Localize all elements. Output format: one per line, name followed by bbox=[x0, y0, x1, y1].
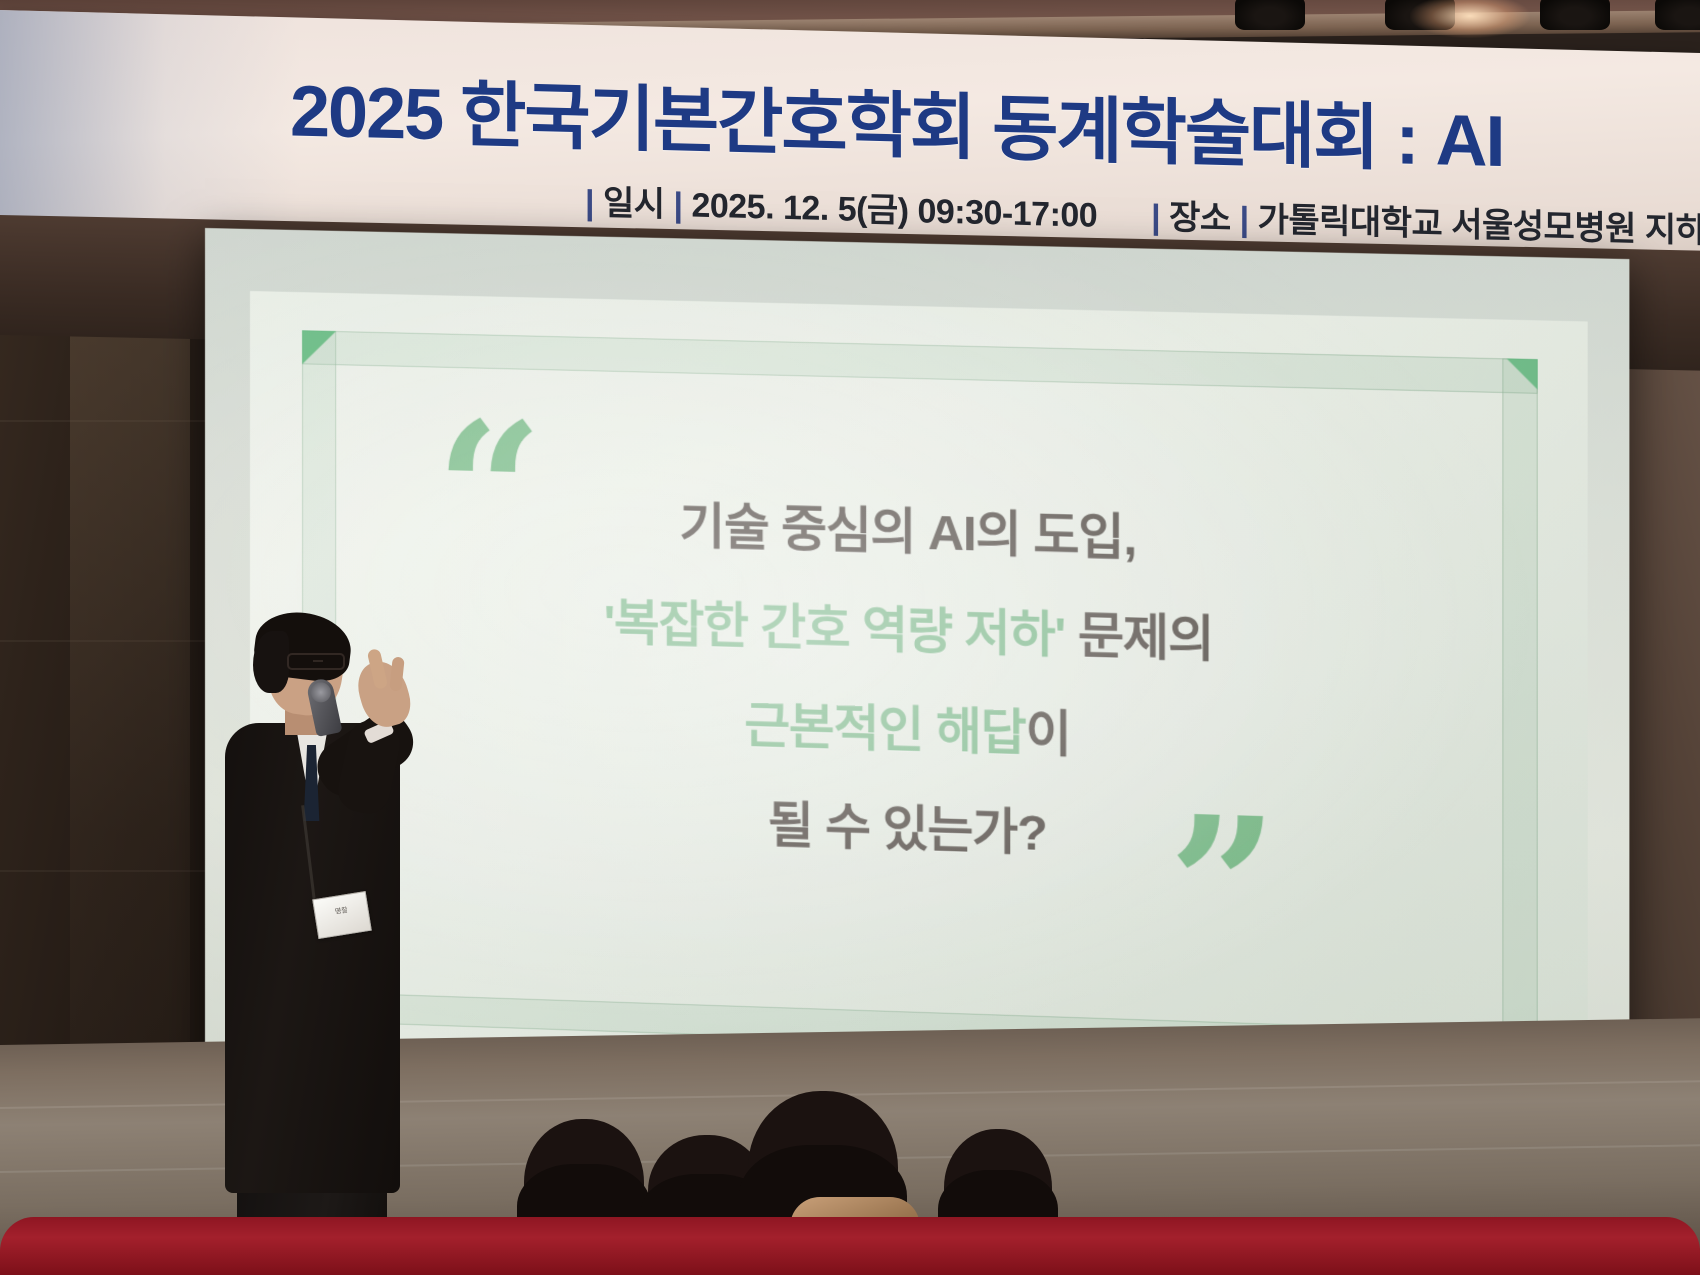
banner-shadow bbox=[0, 10, 300, 233]
quote-line-4-text: 될 수 있는가? bbox=[768, 798, 1047, 861]
quote-line-3: 근본적인 해답이 bbox=[461, 693, 1359, 769]
audience-foreground bbox=[0, 1045, 1700, 1275]
quote-line-2-text: 문제의 bbox=[1065, 608, 1213, 667]
banner-title: 2025 한국기본간호학회 동계학술대회 : AI bbox=[290, 51, 1504, 187]
corner-accent-top-right bbox=[1507, 358, 1538, 389]
stage-light-icon bbox=[1655, 0, 1700, 30]
corner-accent-top-left bbox=[302, 330, 336, 365]
banner-date-value: 2025. 12. 5(금) 09:30-17:00 bbox=[691, 187, 1097, 235]
quote-line-3-text: 이 bbox=[1026, 707, 1071, 763]
quote-close-icon: ” bbox=[1168, 819, 1278, 954]
stage-light-icon bbox=[1540, 0, 1610, 30]
quote-line-3-highlight: 근본적인 해답 bbox=[744, 699, 1025, 762]
quote-line-1-text: 기술 중심의 AI의 도입, bbox=[679, 499, 1136, 566]
presenter-name-badge: 명찰 bbox=[312, 891, 372, 939]
presenter-hair-side bbox=[253, 631, 289, 693]
banner-place-label: 장소 bbox=[1169, 199, 1231, 239]
conference-photo-scene: 2025 한국기본간호학회 동계학술대회 : AI | 일시 | 2025. 1… bbox=[0, 0, 1700, 1275]
presenter-hand bbox=[352, 656, 416, 733]
stage-light-icon bbox=[1385, 0, 1455, 30]
glasses-icon bbox=[287, 653, 345, 670]
audience-seat-row bbox=[0, 1217, 1700, 1275]
banner-date-label: 일시 bbox=[603, 184, 665, 224]
quote-line-2-highlight: '복잡한 간호 역량 저하' bbox=[604, 596, 1066, 663]
stage-light-icon bbox=[1235, 0, 1305, 30]
quote-line-2: '복잡한 간호 역량 저하' 문제의 bbox=[461, 595, 1359, 669]
